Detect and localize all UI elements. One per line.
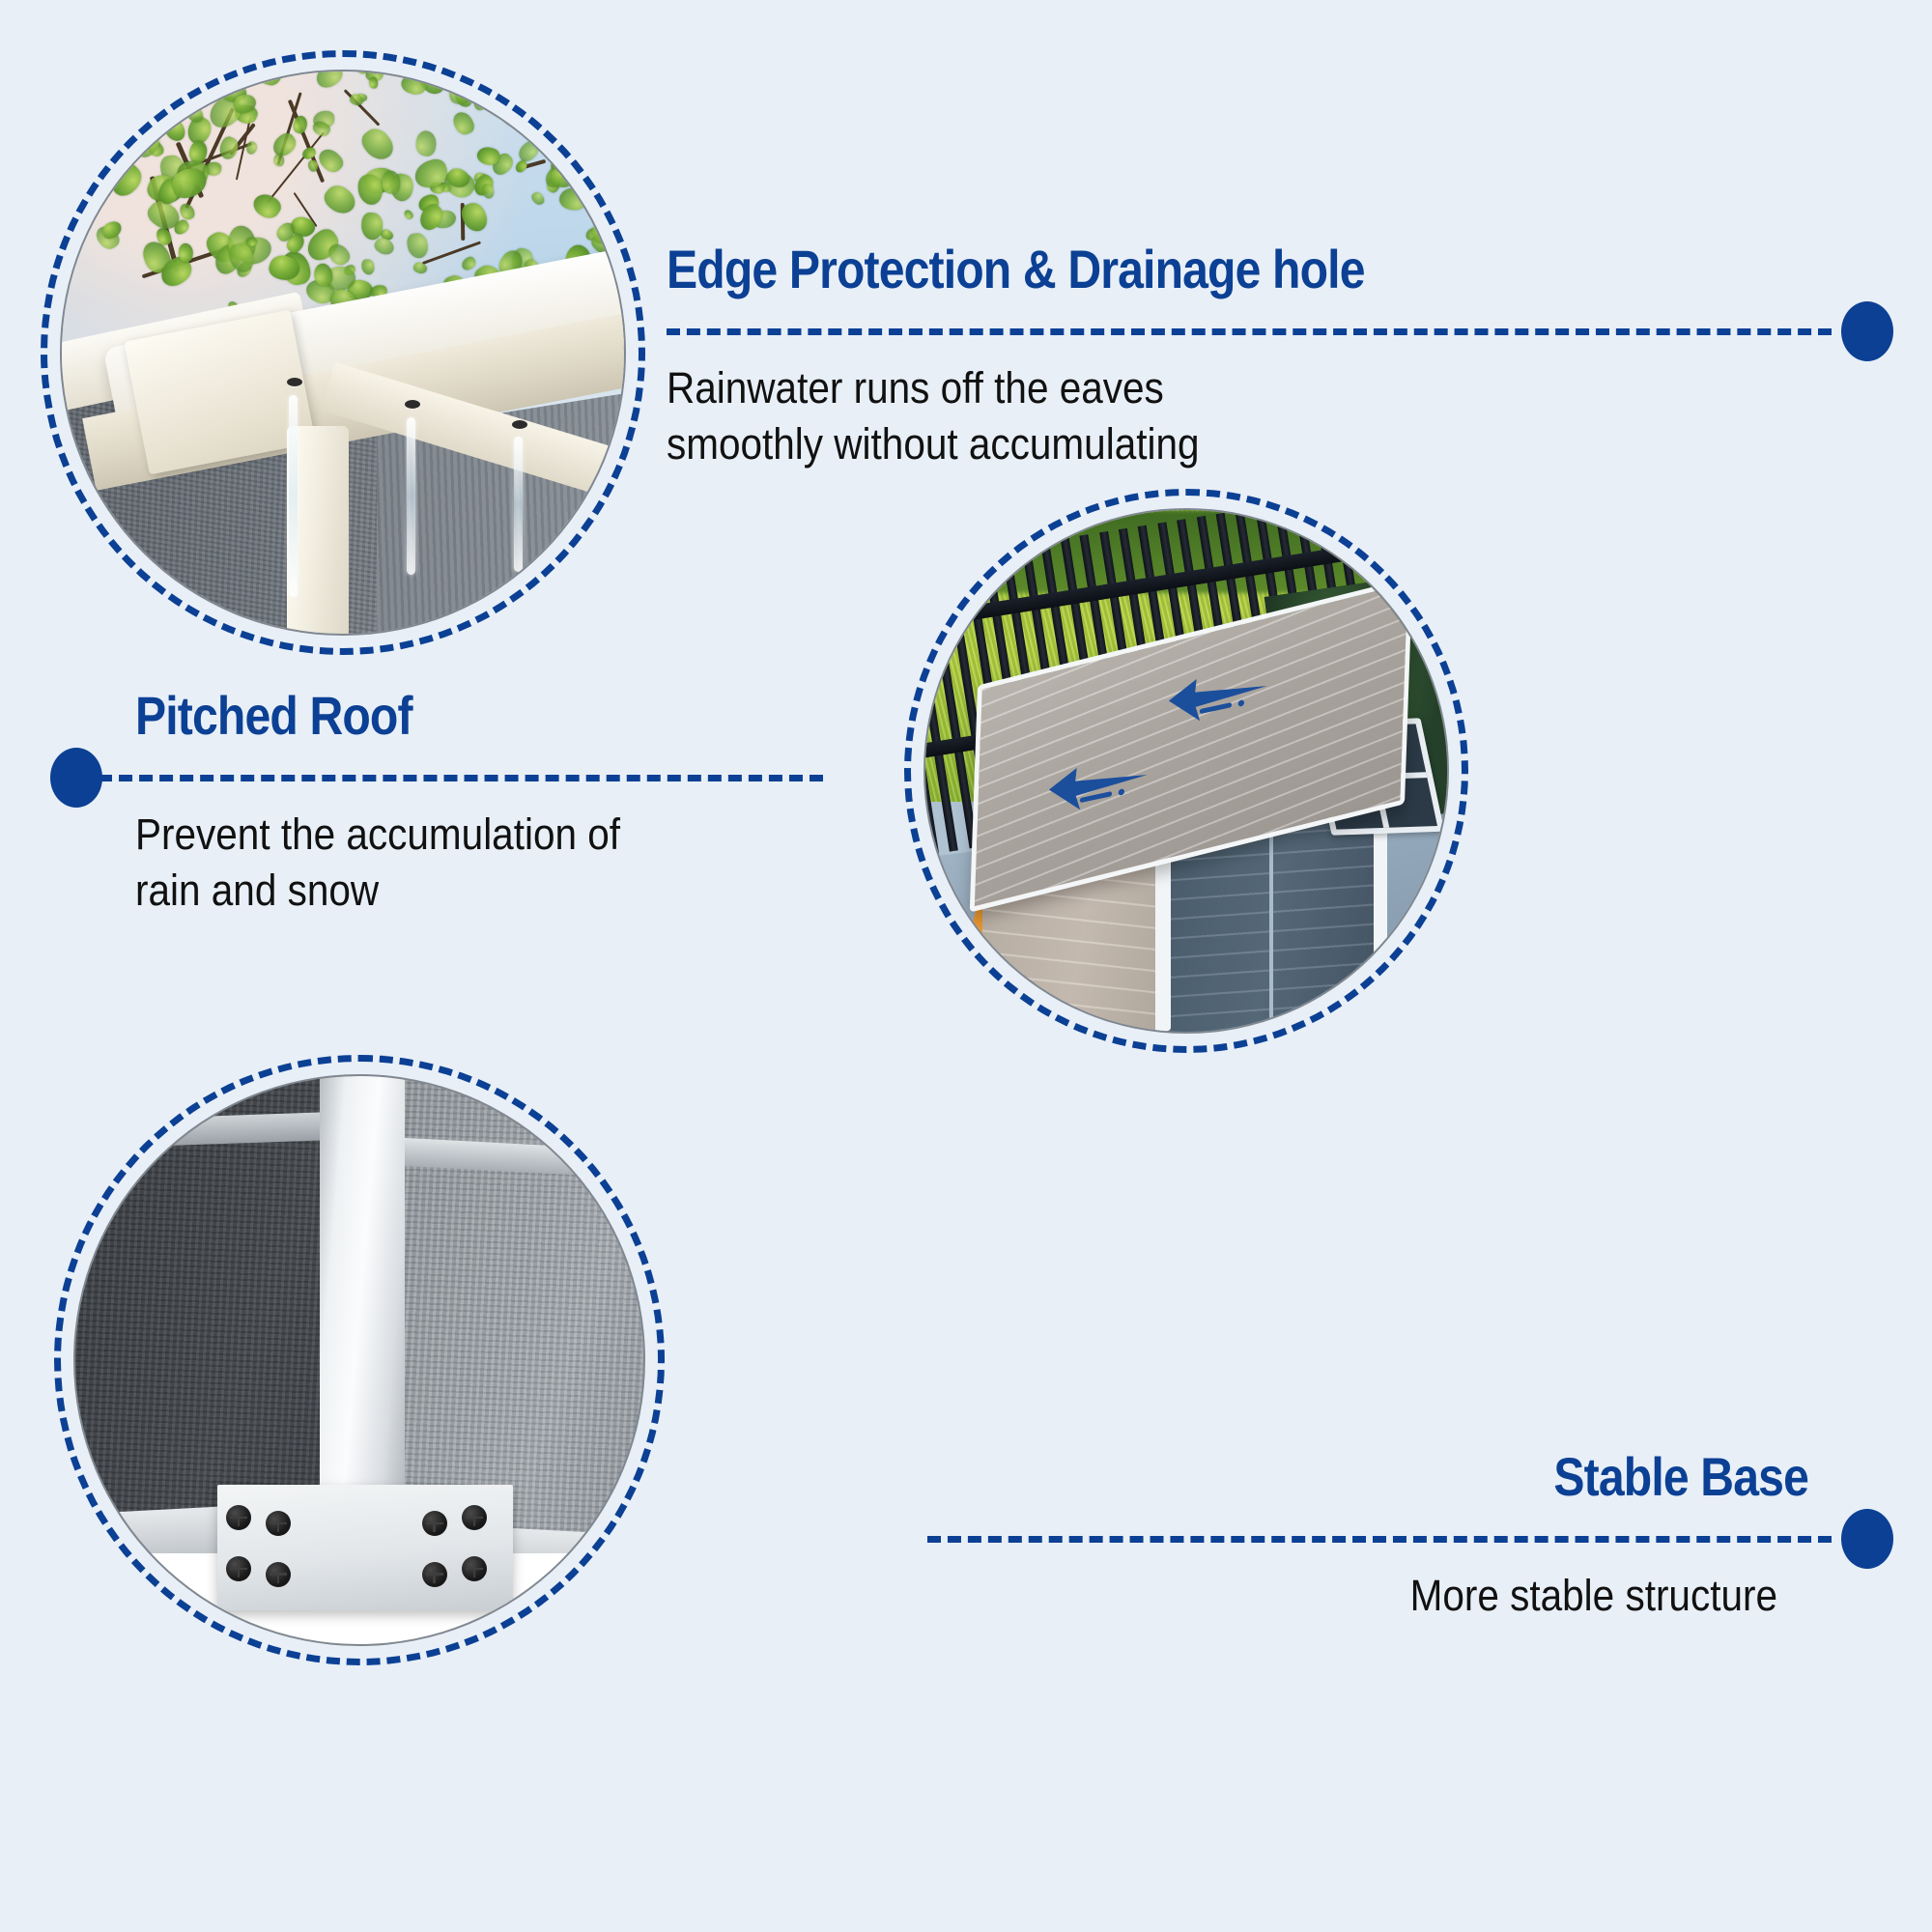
- divider-rule: [927, 1520, 1893, 1558]
- feature-body: Rainwater runs off the eaves smoothly wi…: [667, 360, 1771, 473]
- feature-body: More stable structure: [1012, 1568, 1777, 1625]
- end-dot: [50, 748, 102, 808]
- feature-title: Edge Protection & Drainage hole: [667, 241, 1721, 298]
- feature-block-edge-protection: Edge Protection & Drainage hole Rainwate…: [667, 241, 1893, 473]
- eave-drainage-photo: [41, 50, 645, 655]
- dashed-line: [667, 328, 1832, 335]
- feature-block-pitched-roof: Pitched Roof Prevent the accumulation of…: [50, 688, 823, 920]
- divider-rule: [667, 312, 1893, 351]
- dashed-ring: [904, 489, 1468, 1053]
- feature-body-line: smoothly without accumulating: [667, 416, 1771, 473]
- feature-block-stable-base: Stable Base More stable structure: [927, 1449, 1893, 1624]
- feature-title: Pitched Roof: [135, 688, 726, 745]
- dashed-line: [99, 775, 823, 781]
- base-bracket-photo: [54, 1055, 665, 1665]
- tree-leaf: [548, 71, 584, 104]
- pitched-roof-shed-photo: [904, 489, 1468, 1053]
- dashed-line: [927, 1536, 1832, 1543]
- infographic-canvas: Edge Protection & Drainage hole Rainwate…: [0, 0, 1932, 1932]
- feature-body-line: More stable structure: [1012, 1568, 1777, 1625]
- feature-title: Stable Base: [1051, 1449, 1808, 1506]
- feature-body: Prevent the accumulation of rain and sno…: [135, 807, 754, 920]
- end-dot: [1841, 1509, 1893, 1569]
- dashed-ring: [54, 1055, 665, 1665]
- feature-body-line: rain and snow: [135, 863, 754, 920]
- feature-body-line: Rainwater runs off the eaves: [667, 360, 1771, 417]
- end-dot: [1841, 301, 1893, 361]
- divider-rule: [50, 758, 823, 797]
- dashed-ring: [41, 50, 645, 655]
- feature-body-line: Prevent the accumulation of: [135, 807, 754, 864]
